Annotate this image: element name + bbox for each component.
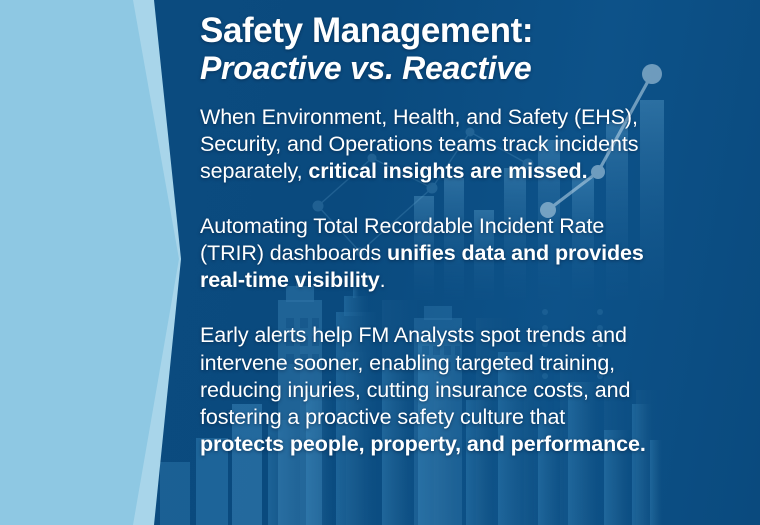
body-paragraph-1: When Environment, Health, and Safety (EH… [200, 104, 652, 185]
content-column: Safety Management: Proactive vs. Reactiv… [200, 0, 652, 525]
body-paragraph-3: Early alerts help FM Analysts spot trend… [200, 322, 652, 457]
emphasis-text: protects people, property, and performan… [200, 432, 646, 456]
heading-line-2: Proactive vs. Reactive [200, 51, 652, 86]
body-text: . [380, 268, 386, 292]
poster-canvas: Safety Management: Proactive vs. Reactiv… [0, 0, 760, 525]
body-text: Early alerts help FM Analysts spot trend… [200, 323, 630, 428]
heading-line-1: Safety Management: [200, 12, 652, 50]
body-paragraph-2: Automating Total Recordable Incident Rat… [200, 213, 652, 294]
poster-heading: Safety Management: Proactive vs. Reactiv… [200, 0, 652, 86]
emphasis-text: critical insights are missed. [308, 159, 587, 183]
